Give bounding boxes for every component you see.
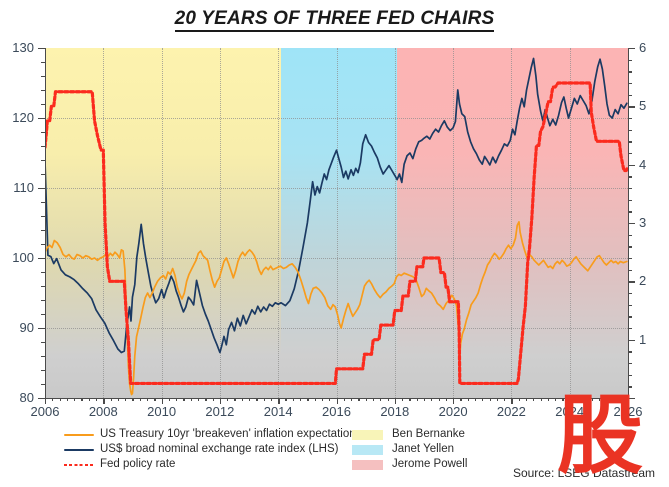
tick-left-94 <box>41 300 45 301</box>
tick-x-2017.75 <box>388 398 389 401</box>
plot-area <box>45 48 628 398</box>
tick-x-2018.25 <box>402 398 403 401</box>
tick-left-104 <box>41 230 45 231</box>
tick-x-2012.75 <box>242 398 243 401</box>
legend-series-label: Fed policy rate <box>100 458 175 471</box>
source-note: Source: LSEG Datastream <box>513 466 655 480</box>
tick-right-4.6 <box>628 130 632 131</box>
tick-x-2024.5 <box>584 398 585 401</box>
axis-label-x-2024: 2024 <box>543 404 597 419</box>
axis-label-left-110: 110 <box>0 180 34 195</box>
tick-x-2006.5 <box>60 398 61 401</box>
tick-x-2009.5 <box>147 398 148 401</box>
series-line-fed-policy-rate <box>45 83 627 383</box>
tick-left-92 <box>41 314 45 315</box>
tick-x-2025.25 <box>606 398 607 401</box>
tick-x-2016.25 <box>344 398 345 401</box>
legend-key-swatch <box>64 464 94 467</box>
series-lines <box>45 48 628 398</box>
tick-x-2020.5 <box>468 398 469 401</box>
tick-left-126 <box>41 76 45 77</box>
tick-x-2017 <box>366 398 367 401</box>
tick-right-5.2 <box>628 95 632 96</box>
tick-x-2021.25 <box>490 398 491 401</box>
legend-band-swatch <box>352 430 383 440</box>
legend-item-chair[interactable]: Jerome Powell <box>352 457 467 472</box>
tick-x-2018.5 <box>409 398 410 401</box>
tick-x-2013.25 <box>256 398 257 401</box>
tick-x-2007.5 <box>89 398 90 401</box>
axis-label-x-2026: 2026 <box>601 404 655 419</box>
tick-left-96 <box>41 286 45 287</box>
tick-right-4.8 <box>628 118 632 119</box>
tick-x-2017.5 <box>380 398 381 401</box>
axis-label-right-3: 3 <box>639 215 646 230</box>
tick-left-98 <box>41 272 45 273</box>
tick-left-110 <box>38 188 45 189</box>
axis-label-right-4: 4 <box>639 157 646 172</box>
legend-band-swatch <box>352 460 383 470</box>
axis-label-x-2012: 2012 <box>193 404 247 419</box>
tick-right-3.4 <box>628 200 632 201</box>
axis-label-x-2014: 2014 <box>251 404 305 419</box>
tick-x-2021.5 <box>497 398 498 401</box>
axis-label-left-130: 130 <box>0 40 34 55</box>
tick-right-2.8 <box>628 235 632 236</box>
tick-left-130 <box>38 48 45 49</box>
tick-x-2006.25 <box>52 398 53 401</box>
tick-x-2024.75 <box>592 398 593 401</box>
axis-label-x-2018: 2018 <box>368 404 422 419</box>
legend-series: US Treasury 10yr 'breakeven' inflation e… <box>64 427 361 472</box>
axis-label-x-2016: 2016 <box>310 404 364 419</box>
legend-chairs: Ben BernankeJanet YellenJerome Powell <box>352 427 467 472</box>
tick-x-2016.5 <box>351 398 352 401</box>
legend-band-swatch <box>352 445 383 455</box>
tick-left-84 <box>41 370 45 371</box>
tick-right-1.6 <box>628 305 632 306</box>
tick-x-2008.75 <box>125 398 126 401</box>
axis-label-right-5: 5 <box>639 98 646 113</box>
tick-x-2023 <box>541 398 542 401</box>
tick-right-3.8 <box>628 176 632 177</box>
axis-label-left-90: 90 <box>0 320 34 335</box>
tick-x-2012.5 <box>234 398 235 401</box>
tick-x-2015.75 <box>329 398 330 401</box>
tick-right-1.2 <box>628 328 632 329</box>
legend-item-series[interactable]: US Treasury 10yr 'breakeven' inflation e… <box>64 427 361 442</box>
tick-right-2.4 <box>628 258 632 259</box>
tick-x-2009 <box>132 398 133 401</box>
tick-x-2009.25 <box>140 398 141 401</box>
tick-x-2008.5 <box>118 398 119 401</box>
tick-left-106 <box>41 216 45 217</box>
chart-root: 20 YEARS OF THREE FED CHAIRS 13012011010… <box>0 0 669 487</box>
tick-x-2014.75 <box>300 398 301 401</box>
axis-label-right-1: 1 <box>639 332 646 347</box>
tick-x-2011.25 <box>198 398 199 401</box>
tick-right-4.0 <box>628 165 635 166</box>
solid-line-icon <box>64 444 94 456</box>
tick-x-2023.75 <box>562 398 563 401</box>
tick-right-0.2 <box>628 386 632 387</box>
axis-label-x-2006: 2006 <box>18 404 72 419</box>
tick-x-2022.75 <box>533 398 534 401</box>
tick-right-6.0 <box>628 48 635 49</box>
tick-x-2010.25 <box>169 398 170 401</box>
legend-chair-label: Ben Bernanke <box>392 428 465 441</box>
tick-left-100 <box>38 258 45 259</box>
tick-x-2022.25 <box>519 398 520 401</box>
tick-right-3.2 <box>628 211 632 212</box>
tick-x-2013.75 <box>271 398 272 401</box>
legend-chair-label: Jerome Powell <box>392 458 467 471</box>
tick-right-5.0 <box>628 106 635 107</box>
tick-left-108 <box>41 202 45 203</box>
tick-x-2019.75 <box>446 398 447 401</box>
tick-x-2021.75 <box>504 398 505 401</box>
tick-right-4.4 <box>628 141 632 142</box>
legend-chair-label: Janet Yellen <box>392 443 454 456</box>
tick-x-2016.75 <box>358 398 359 401</box>
axis-label-left-120: 120 <box>0 110 34 125</box>
tick-x-2020.25 <box>460 398 461 401</box>
tick-x-2015.25 <box>315 398 316 401</box>
legend-key-swatch <box>64 434 94 437</box>
page-title: 20 YEARS OF THREE FED CHAIRS <box>0 8 669 30</box>
tick-x-2011.5 <box>205 398 206 401</box>
tick-x-2007.75 <box>96 398 97 401</box>
tick-right-3.6 <box>628 188 632 189</box>
tick-x-2015 <box>307 398 308 401</box>
tick-x-2013.5 <box>264 398 265 401</box>
legend-item-series[interactable]: Fed policy rate <box>64 457 361 472</box>
tick-left-80 <box>38 398 45 399</box>
tick-left-102 <box>41 244 45 245</box>
solid-line-icon <box>64 429 94 441</box>
tick-x-2007.25 <box>81 398 82 401</box>
tick-right-1.8 <box>628 293 632 294</box>
tick-right-5.4 <box>628 83 632 84</box>
tick-right-0.8 <box>628 351 632 352</box>
tick-left-90 <box>38 328 45 329</box>
tick-right-0.6 <box>628 363 632 364</box>
tick-right-1.0 <box>628 340 635 341</box>
tick-left-118 <box>41 132 45 133</box>
tick-left-120 <box>38 118 45 119</box>
tick-x-2009.75 <box>154 398 155 401</box>
tick-x-2022.5 <box>526 398 527 401</box>
tick-x-2017.25 <box>373 398 374 401</box>
tick-left-82 <box>41 384 45 385</box>
tick-left-86 <box>41 356 45 357</box>
tick-x-2023.25 <box>548 398 549 401</box>
dotted-line-icon <box>64 459 94 471</box>
tick-left-128 <box>41 62 45 63</box>
tick-left-122 <box>41 104 45 105</box>
tick-right-2.0 <box>628 281 635 282</box>
tick-right-5.6 <box>628 71 632 72</box>
tick-left-88 <box>41 342 45 343</box>
tick-x-2014.25 <box>285 398 286 401</box>
tick-left-124 <box>41 90 45 91</box>
tick-x-2020.75 <box>475 398 476 401</box>
axis-label-x-2020: 2020 <box>426 404 480 419</box>
tick-right-2.6 <box>628 246 632 247</box>
tick-x-2008.25 <box>111 398 112 401</box>
tick-x-2014.5 <box>293 398 294 401</box>
tick-x-2025 <box>599 398 600 401</box>
tick-right-3.0 <box>628 223 635 224</box>
tick-x-2010.75 <box>183 398 184 401</box>
tick-x-2023.5 <box>555 398 556 401</box>
tick-x-2010.5 <box>176 398 177 401</box>
tick-x-2011.75 <box>213 398 214 401</box>
tick-x-2012.25 <box>227 398 228 401</box>
tick-left-116 <box>41 146 45 147</box>
axis-label-right-6: 6 <box>639 40 646 55</box>
tick-right-5.8 <box>628 60 632 61</box>
tick-x-2019.5 <box>439 398 440 401</box>
tick-left-112 <box>41 174 45 175</box>
tick-x-2024.25 <box>577 398 578 401</box>
tick-x-2025.75 <box>621 398 622 401</box>
axis-label-x-2022: 2022 <box>484 404 538 419</box>
legend-item-chair[interactable]: Ben Bernanke <box>352 427 467 442</box>
tick-x-2025.5 <box>613 398 614 401</box>
axis-label-left-80: 80 <box>0 390 34 405</box>
tick-left-114 <box>41 160 45 161</box>
tick-x-2015.5 <box>322 398 323 401</box>
axis-label-right-2: 2 <box>639 273 646 288</box>
axis-label-x-2008: 2008 <box>76 404 130 419</box>
tick-x-2006.75 <box>67 398 68 401</box>
tick-x-2013 <box>249 398 250 401</box>
tick-right-4.2 <box>628 153 632 154</box>
page-title-text: 20 YEARS OF THREE FED CHAIRS <box>175 8 495 32</box>
legend-item-chair[interactable]: Janet Yellen <box>352 442 467 457</box>
tick-x-2019.25 <box>431 398 432 401</box>
legend-key-swatch <box>64 449 94 452</box>
legend-item-series[interactable]: US$ broad nominal exchange rate index (L… <box>64 442 361 457</box>
tick-right-0.4 <box>628 375 632 376</box>
axis-label-left-100: 100 <box>0 250 34 265</box>
axis-left-spine <box>45 48 46 398</box>
tick-x-2018.75 <box>417 398 418 401</box>
tick-x-2021 <box>482 398 483 401</box>
tick-x-2007 <box>74 398 75 401</box>
tick-x-2019 <box>424 398 425 401</box>
legend-series-label: US Treasury 10yr 'breakeven' inflation e… <box>100 428 361 441</box>
tick-x-2011 <box>191 398 192 401</box>
axis-label-x-2010: 2010 <box>135 404 189 419</box>
legend-series-label: US$ broad nominal exchange rate index (L… <box>100 443 338 456</box>
tick-right-1.4 <box>628 316 632 317</box>
tick-right-2.2 <box>628 270 632 271</box>
